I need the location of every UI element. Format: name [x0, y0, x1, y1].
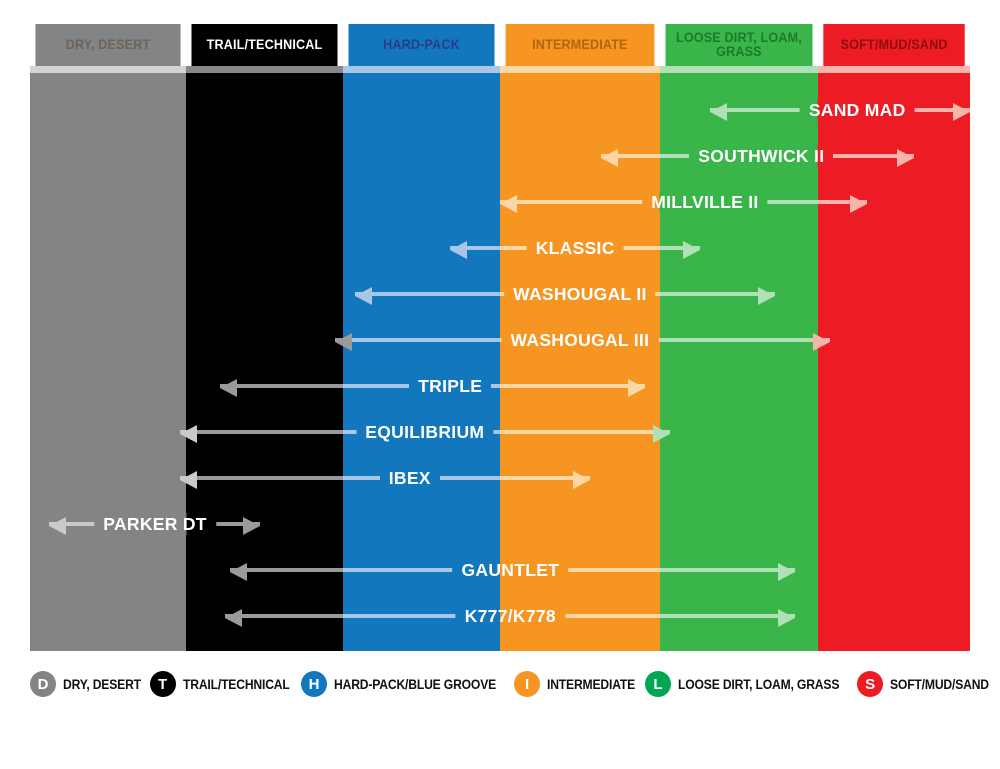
- divider-segment-orange: [500, 66, 660, 73]
- arrowhead-right: [897, 149, 914, 167]
- column-header-black: TRAIL/TECHNICAL: [192, 24, 338, 66]
- arrow-line-segment: [500, 384, 645, 388]
- arrowhead-left: [230, 563, 247, 581]
- tire-model-label: GAUNTLET: [452, 559, 568, 581]
- legend-badge-icon: S: [857, 671, 883, 697]
- header-divider: [30, 66, 970, 73]
- arrow-line: [660, 614, 795, 618]
- tire-range-rows: SAND MADSOUTHWICK IIMILLVILLE IIKLASSICW…: [30, 73, 970, 651]
- arrowhead-left: [450, 241, 467, 259]
- arrow-line-segment: [660, 338, 818, 342]
- legend: DDRY, DESERTTTRAIL/TECHNICALHHARD-PACK/B…: [30, 664, 970, 704]
- tire-model-label: PARKER DT: [94, 513, 216, 535]
- divider-segment-gray: [30, 66, 186, 73]
- arrow-line: [343, 338, 500, 342]
- legend-label: DRY, DESERT: [63, 677, 141, 692]
- divider-segment-green: [660, 66, 818, 73]
- arrow-line-segment: [225, 614, 343, 618]
- arrow-line: [186, 476, 343, 480]
- legend-item-d[interactable]: DDRY, DESERT: [30, 671, 150, 697]
- arrowhead-left: [335, 333, 352, 351]
- arrow-line-segment: [355, 292, 500, 296]
- arrow-line: [186, 430, 343, 434]
- arrow-line: [355, 292, 500, 296]
- divider-segment-blue: [343, 66, 500, 73]
- arrow-line: [500, 430, 660, 434]
- arrowhead-left: [180, 471, 197, 489]
- arrowhead-left: [355, 287, 372, 305]
- arrowhead-right: [778, 563, 795, 581]
- tire-model-label: IBEX: [380, 467, 440, 489]
- legend-item-i[interactable]: IINTERMEDIATE: [514, 671, 645, 697]
- chart-plot-area: SAND MADSOUTHWICK IIMILLVILLE IIKLASSICW…: [30, 73, 970, 651]
- arrowhead-left: [220, 379, 237, 397]
- legend-badge-icon: T: [150, 671, 176, 697]
- tire-model-label: WASHOUGAL II: [504, 283, 656, 305]
- tire-model-label: TRIPLE: [409, 375, 491, 397]
- arrowhead-left: [710, 103, 727, 121]
- column-header-red: SOFT/MUD/SAND: [823, 24, 965, 66]
- arrow-line-segment: [500, 430, 660, 434]
- arrow-line: [220, 384, 343, 388]
- tire-model-label: EQUILIBRIUM: [356, 421, 493, 443]
- arrow-line-segment: [220, 384, 343, 388]
- column-header-green: LOOSE DIRT, LOAM, GRASS: [665, 24, 812, 66]
- tire-model-label: SOUTHWICK II: [689, 145, 833, 167]
- arrowhead-right: [573, 471, 590, 489]
- legend-label: LOOSE DIRT, LOAM, GRASS: [678, 677, 839, 692]
- arrowhead-right: [683, 241, 700, 259]
- arrowhead-right: [653, 425, 670, 443]
- column-header-gray: DRY, DESERT: [35, 24, 180, 66]
- arrowhead-right: [243, 517, 260, 535]
- legend-label: INTERMEDIATE: [547, 677, 635, 692]
- legend-badge-icon: I: [514, 671, 540, 697]
- arrowhead-right: [813, 333, 830, 351]
- arrow-line-segment: [186, 430, 343, 434]
- arrowhead-right: [850, 195, 867, 213]
- legend-badge-icon: H: [301, 671, 327, 697]
- arrowhead-left: [601, 149, 618, 167]
- arrowhead-left: [180, 425, 197, 443]
- arrow-line: [660, 568, 795, 572]
- legend-badge-icon: L: [645, 671, 671, 697]
- legend-badge-icon: D: [30, 671, 56, 697]
- legend-label: SOFT/MUD/SAND: [890, 677, 989, 692]
- arrowhead-right: [778, 609, 795, 627]
- arrowhead-left: [49, 517, 66, 535]
- legend-item-l[interactable]: LLOOSE DIRT, LOAM, GRASS: [645, 671, 857, 697]
- divider-segment-black: [186, 66, 343, 73]
- arrowhead-left: [500, 195, 517, 213]
- tire-model-label: K777/K778: [456, 605, 565, 627]
- arrowhead-right: [758, 287, 775, 305]
- arrow-line: [500, 384, 645, 388]
- tire-model-label: KLASSIC: [527, 237, 624, 259]
- legend-item-t[interactable]: TTRAIL/TECHNICAL: [150, 671, 302, 697]
- column-header-orange: INTERMEDIATE: [506, 24, 655, 66]
- arrowhead-right: [953, 103, 970, 121]
- arrow-line: [225, 614, 343, 618]
- arrow-line-segment: [343, 338, 500, 342]
- legend-item-s[interactable]: SSOFT/MUD/SAND: [857, 671, 1000, 697]
- arrow-line-segment: [660, 614, 795, 618]
- tire-model-label: MILLVILLE II: [642, 191, 767, 213]
- tire-model-label: SAND MAD: [800, 99, 915, 121]
- arrow-line: [500, 200, 660, 204]
- arrowhead-right: [628, 379, 645, 397]
- column-header-blue: HARD-PACK: [348, 24, 494, 66]
- legend-label: HARD-PACK/BLUE GROOVE: [334, 677, 496, 692]
- legend-label: TRAIL/TECHNICAL: [183, 677, 290, 692]
- tire-model-label: WASHOUGAL III: [502, 329, 659, 351]
- arrow-line-segment: [186, 476, 343, 480]
- column-header-row: DRY, DESERTTRAIL/TECHNICALHARD-PACKINTER…: [30, 24, 970, 66]
- arrow-line: [660, 338, 818, 342]
- arrow-line-segment: [500, 200, 660, 204]
- divider-segment-red: [818, 66, 970, 73]
- arrowhead-left: [225, 609, 242, 627]
- terrain-chart-page: DRY, DESERTTRAIL/TECHNICALHARD-PACKINTER…: [0, 0, 1000, 769]
- arrow-line-segment: [660, 568, 795, 572]
- legend-item-h[interactable]: HHARD-PACK/BLUE GROOVE: [301, 671, 514, 697]
